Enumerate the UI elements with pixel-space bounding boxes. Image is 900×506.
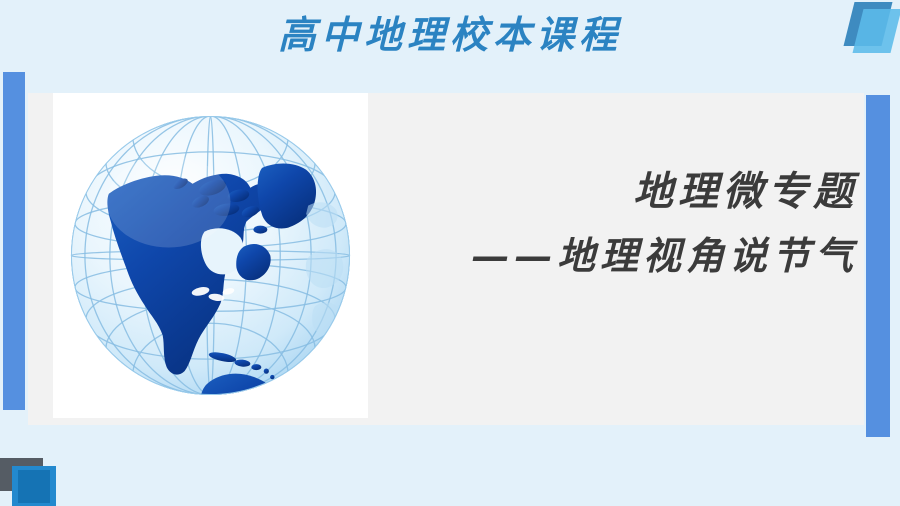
headline-block: 地理微专题 ——地理视角说节气 [390, 160, 880, 288]
presentation-slide: 高中地理校本课程 [0, 0, 900, 506]
square-decoration-blue-inner [18, 470, 50, 503]
slide-title: 高中地理校本课程 [0, 10, 900, 60]
headline-main: 地理微专题 [390, 160, 858, 224]
headline-subtitle: ——地理视角说节气 [390, 224, 858, 288]
globe-icon [61, 101, 360, 410]
accent-bar-left [3, 72, 25, 410]
globe-image-frame [53, 93, 368, 418]
